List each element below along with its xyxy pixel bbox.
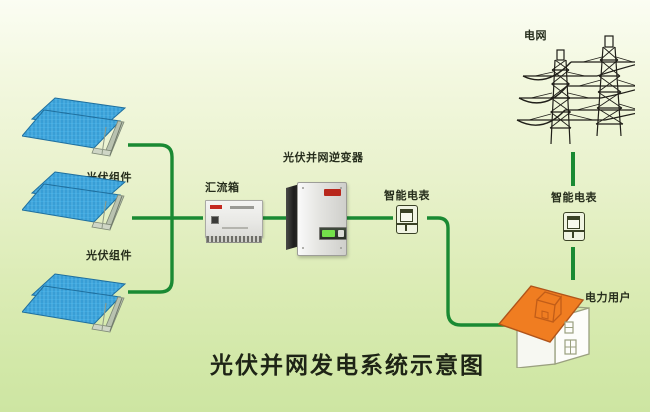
transmission-towers[interactable] xyxy=(505,32,635,152)
smart-meter-left-display xyxy=(400,209,413,222)
combiner-box-label: 汇流箱 xyxy=(205,182,240,193)
inverter-display-button[interactable] xyxy=(338,230,344,237)
inverter-display-led xyxy=(322,230,335,237)
inverter-brand-logo xyxy=(324,189,341,196)
smart-meter-left-display-bar xyxy=(401,210,412,213)
inverter[interactable] xyxy=(286,182,348,258)
smart-meter-left-label: 智能电表 xyxy=(384,190,430,201)
pv-array-1[interactable] xyxy=(22,96,137,168)
inverter-screw-tr xyxy=(340,187,342,189)
pv-grid-diagram: 光伏组件 光伏组件 汇流箱 xyxy=(0,0,650,412)
smart-meter-right[interactable] xyxy=(563,212,585,241)
smart-meter-right-divider xyxy=(564,230,584,232)
smart-meter-left[interactable] xyxy=(396,205,418,234)
combiner-box-switch[interactable] xyxy=(211,216,219,224)
combiner-box-subtext xyxy=(222,227,248,229)
combiner-box-body xyxy=(205,200,263,238)
smart-meter-right-display-bar xyxy=(568,217,579,220)
inverter-label: 光伏并网逆变器 xyxy=(283,152,364,163)
smart-meter-left-divider xyxy=(397,223,417,225)
pv-array-3[interactable] xyxy=(22,272,137,344)
inverter-screw-br xyxy=(340,247,342,249)
pv-array-2-label: 光伏组件 xyxy=(86,250,132,261)
combiner-box-logo xyxy=(210,205,222,209)
smart-meter-left-vdivider xyxy=(405,223,407,231)
inverter-body xyxy=(297,182,347,256)
combiner-box-nameplate xyxy=(230,206,254,209)
smart-meter-right-label: 智能电表 xyxy=(551,192,597,203)
inverter-screw-tl xyxy=(302,187,304,189)
diagram-title: 光伏并网发电系统示意图 xyxy=(210,355,485,378)
pv-array-2[interactable] xyxy=(22,170,137,242)
smart-meter-right-vdivider xyxy=(572,230,574,238)
combiner-box-terminal-strip xyxy=(206,236,262,243)
inverter-screw-bl xyxy=(302,247,304,249)
power-consumer-label: 电力用户 xyxy=(585,292,631,303)
power-grid-label: 电网 xyxy=(524,30,547,41)
smart-meter-right-display xyxy=(567,216,580,229)
combiner-box[interactable] xyxy=(205,200,263,244)
inverter-display[interactable] xyxy=(319,227,347,240)
